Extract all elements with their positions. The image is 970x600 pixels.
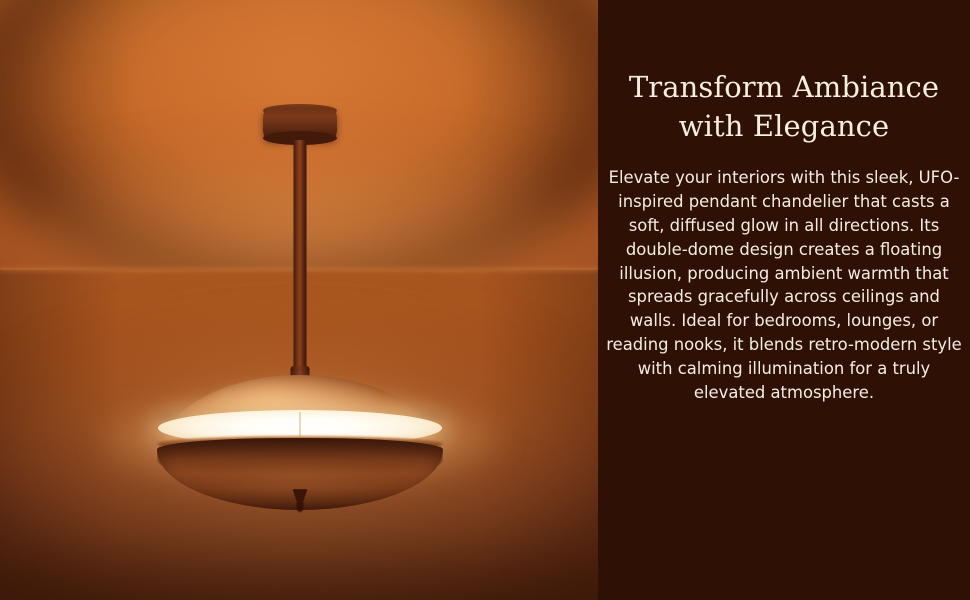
bottom-finial-tip: [297, 503, 304, 512]
description-panel: Transform Ambiance with Elegance Elevate…: [598, 0, 970, 600]
product-description: Elevate your interiors with this sleek, …: [605, 146, 963, 406]
product-feature-banner: Transform Ambiance with Elegance Elevate…: [0, 0, 970, 600]
product-photo: [0, 0, 598, 600]
suspension-rod: [294, 140, 307, 382]
headline-line-2: with Elegance: [629, 107, 939, 146]
page-title: Transform Ambiance with Elegance: [629, 0, 939, 146]
pendant-chandelier: [0, 0, 598, 600]
headline-line-1: Transform Ambiance: [629, 70, 939, 104]
